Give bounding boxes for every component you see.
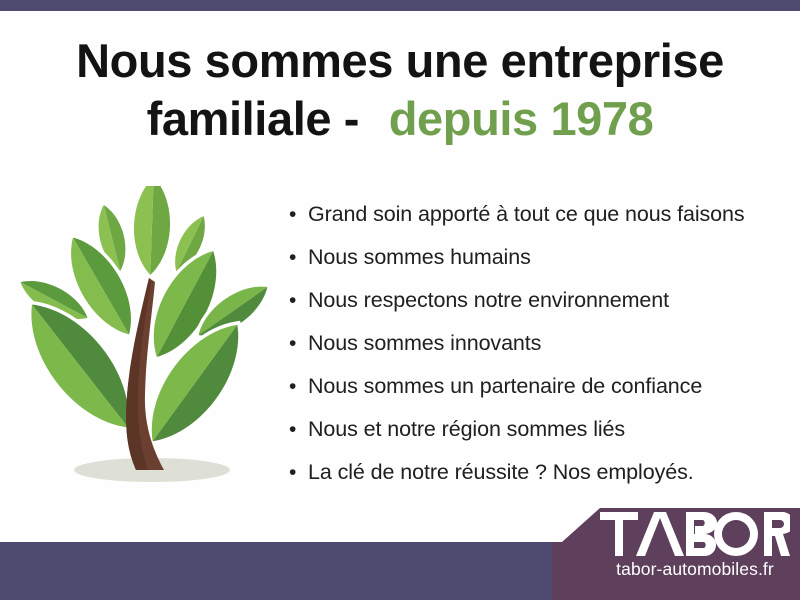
- bullet-text: Nous et notre région sommes liés: [308, 417, 625, 442]
- bullet-marker-icon: •: [286, 290, 308, 311]
- title-line-2: familiale - depuis 1978: [40, 90, 760, 148]
- bullet-text: Nous sommes un partenaire de confiance: [308, 374, 702, 399]
- tree-illustration: [12, 186, 282, 486]
- bullet-marker-icon: •: [286, 204, 308, 225]
- title-line-2-accent: depuis 1978: [389, 92, 654, 145]
- slide-canvas: Nous sommes une entreprise familiale - d…: [0, 0, 800, 600]
- logo-url-text: tabor-automobiles.fr: [600, 559, 790, 580]
- tabor-logo-icon: [600, 512, 790, 556]
- list-item: • Nous respectons notre environnement: [286, 279, 786, 322]
- top-accent-bar: [0, 0, 800, 11]
- list-item: • Grand soin apporté à tout ce que nous …: [286, 193, 786, 236]
- bullet-list: • Grand soin apporté à tout ce que nous …: [286, 193, 786, 494]
- bullet-marker-icon: •: [286, 419, 308, 440]
- list-item: • Nous sommes humains: [286, 236, 786, 279]
- bullet-text: La clé de notre réussite ? Nos employés.: [308, 460, 694, 485]
- bullet-text: Nous respectons notre environnement: [308, 288, 669, 313]
- list-item: • La clé de notre réussite ? Nos employé…: [286, 451, 786, 494]
- bullet-marker-icon: •: [286, 247, 308, 268]
- title-line-1: Nous sommes une entreprise: [40, 32, 760, 90]
- title-line-2-plain: familiale -: [147, 92, 372, 145]
- leaf-top-center: [132, 186, 171, 276]
- bullet-text: Grand soin apporté à tout ce que nous fa…: [308, 202, 745, 227]
- list-item: • Nous sommes un partenaire de confiance: [286, 365, 786, 408]
- list-item: • Nous sommes innovants: [286, 322, 786, 365]
- page-title: Nous sommes une entreprise familiale - d…: [40, 32, 760, 148]
- bullet-marker-icon: •: [286, 376, 308, 397]
- list-item: • Nous et notre région sommes liés: [286, 408, 786, 451]
- bullet-text: Nous sommes innovants: [308, 331, 541, 356]
- title-spacer: [372, 92, 389, 145]
- bullet-marker-icon: •: [286, 333, 308, 354]
- bullet-text: Nous sommes humains: [308, 245, 531, 270]
- bullet-marker-icon: •: [286, 462, 308, 483]
